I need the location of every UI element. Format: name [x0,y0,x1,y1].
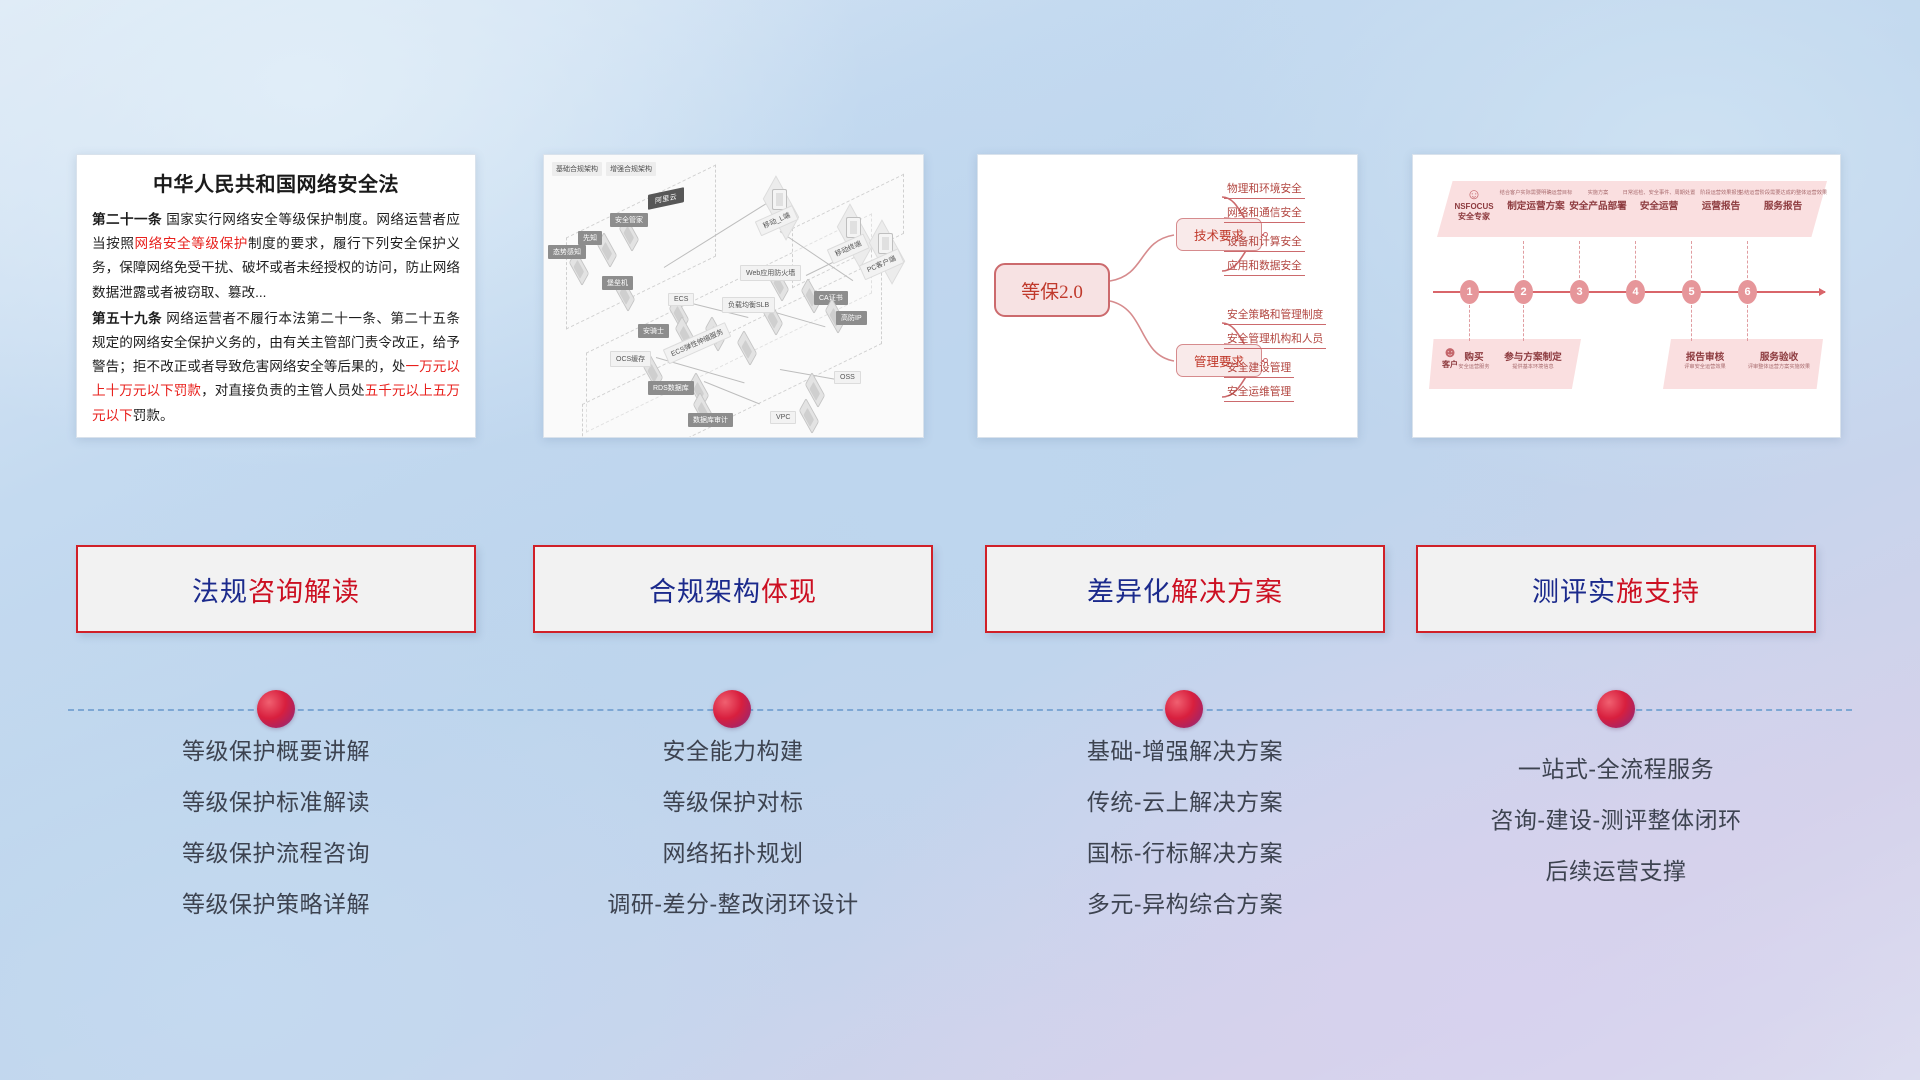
node-load-balancer-slb: 负载均衡SLB [722,297,775,313]
flow-step-bottom-2-title: 参与方案制定 [1495,349,1571,363]
legend-enhanced: 增强合规架构 [606,162,656,176]
flow-step-bottom-1: 购买 安全运营服务 [1453,349,1495,372]
heading-1-text: 法规咨询解读 [192,570,360,609]
flow-axis-dot-3: 3 [1570,280,1589,304]
detail-column-1: 等级保护概要讲解 等级保护标准解读 等级保护流程咨询 等级保护策略详解 [76,740,476,944]
mindmap-leaf-mgmt-4: 安全运维管理 [1224,384,1294,402]
node-ecs: ECS [668,293,694,306]
heading-row: 法规咨询解读 合规架构体现 差异化解决方案 测评实施支持 [0,545,1920,640]
mindmap-leaf-tech-1: 物理和环境安全 [1224,181,1305,199]
flow-tick-3 [1579,241,1580,283]
flow-axis-dot-5: 5 [1682,280,1701,304]
law-article-21: 第二十一条 国家实行网络安全等级保护制度。网络运营者应当按照网络安全等级保护制度… [92,208,460,305]
heading-2-text: 合规架构体现 [649,570,817,609]
detail-column-4: 一站式-全流程服务 咨询-建设-测评整体闭环 后续运营支撑 [1416,758,1816,911]
heading-2-blue: 合规架构 [649,577,761,607]
flow-step-bottom-2: 参与方案制定 提供基本环境信息 [1495,349,1571,372]
flow-provider-persona: ☺ NSFOCUS 安全专家 [1443,187,1505,222]
node-ocs-cache: OCS缓存 [610,351,651,367]
timeline-dot-1[interactable] [257,690,295,728]
flow-axis-dot-6: 6 [1738,280,1757,304]
heading-4-red: 施支持 [1616,577,1700,607]
node-security-steward: 安全管家 [610,213,648,227]
mindmap-leaf-mgmt-2: 安全管理机构和人员 [1224,331,1326,349]
list-item: 网络拓扑规划 [533,842,933,865]
list-item: 基础-增强解决方案 [985,740,1385,763]
heading-3-blue: 差异化 [1087,577,1171,607]
flow-tick-b6 [1747,305,1748,341]
flow-step-bottom-6-sub: 评审整体运营方案实施效果 [1737,363,1821,370]
article-59-text-c: 罚款。 [133,408,174,423]
flow-step-bottom-6-title: 服务验收 [1737,349,1821,363]
node-anti-ddos-ip: 高防IP [836,311,867,325]
mindmap-leaf-mgmt-1: 安全策略和管理制度 [1224,307,1326,325]
card-dengbao-mindmap[interactable]: 等保2.0 技术要求 物理和环境安全 网络和通信安全 设备和计算安全 应用和数据… [977,154,1358,438]
node-xianzhi: 先知 [578,231,602,245]
mindmap-leaf-tech-3: 设备和计算安全 [1224,234,1305,252]
heading-box-assessment-support[interactable]: 测评实施支持 [1416,545,1816,633]
mindmap-leaf-tech-2: 网络和通信安全 [1224,205,1305,223]
heading-2-red: 体现 [761,577,817,607]
heading-3-text: 差异化解决方案 [1087,570,1283,609]
flow-tick-6 [1747,241,1748,283]
list-item: 国标-行标解决方案 [985,842,1385,865]
flow-axis-dot-1: 1 [1460,280,1479,304]
flow-provider-title: NSFOCUS 安全专家 [1443,202,1505,222]
timeline-dot-2[interactable] [713,690,751,728]
mindmap: 等保2.0 技术要求 物理和环境安全 网络和通信安全 设备和计算安全 应用和数据… [978,155,1357,437]
flow-step-bottom-1-title: 购买 [1453,349,1495,363]
list-item: 等级保护对标 [533,791,933,814]
node-situation-awareness: 态势感知 [548,245,586,259]
heading-box-compliance-architecture[interactable]: 合规架构体现 [533,545,933,633]
timeline-dashed-line [68,709,1852,711]
node-anqishi: 安骑士 [638,324,669,338]
icon-mobile-terminal [772,189,787,210]
article-21-label: 第二十一条 [92,212,162,227]
list-item: 等级保护标准解读 [76,791,476,814]
heading-box-regulation-consulting[interactable]: 法规咨询解读 [76,545,476,633]
flow-diagram: ☺ NSFOCUS 安全专家 ☻ 客户 结合客户实际需要明确运营目标 制定运营方… [1413,155,1840,437]
flow-tick-b2 [1523,305,1524,341]
flow-tick-b5 [1691,305,1692,341]
flow-step-bottom-6: 服务验收 评审整体运营方案实施效果 [1737,349,1821,372]
flow-axis-dot-2: 2 [1514,280,1533,304]
list-item: 等级保护策略详解 [76,893,476,916]
list-item: 一站式-全流程服务 [1416,758,1816,781]
node-bastion-host: 堡垒机 [602,276,633,290]
heading-1-blue: 法规 [192,577,248,607]
flow-step-bottom-5-title: 报告审核 [1669,349,1741,363]
legend-basic: 基础合规架构 [552,162,602,176]
list-item: 传统-云上解决方案 [985,791,1385,814]
law-card-title: 中华人民共和国网络安全法 [92,168,460,197]
card-compliance-architecture[interactable]: 基础合规架构 增强合规架构 阿里云 安全管家 先知 [543,154,924,438]
timeline-dot-3[interactable] [1165,690,1203,728]
mindmap-root-node[interactable]: 等保2.0 [994,263,1110,317]
node-web-application-firewall: Web应用防火墙 [740,265,801,281]
list-item: 多元-异构综合方案 [985,893,1385,916]
architecture-diagram: 基础合规架构 增强合规架构 阿里云 安全管家 先知 [544,155,923,437]
flow-tick-5 [1691,241,1692,283]
flow-step-bottom-5: 报告审核 评审安全运营效果 [1669,349,1741,372]
card-cybersecurity-law[interactable]: 中华人民共和国网络安全法 第二十一条 国家实行网络安全等级保护制度。网络运营者应… [76,154,476,438]
flow-step-bottom-5-sub: 评审安全运营效果 [1669,363,1741,370]
list-item: 安全能力构建 [533,740,933,763]
expert-person-icon: ☺ [1443,187,1505,202]
node-rds-database: RDS数据库 [648,381,694,395]
flow-step-bottom-2-sub: 提供基本环境信息 [1495,363,1571,370]
flow-tick-4 [1635,241,1636,283]
article-59-text-b: ，对直接负责的主管人员处 [201,383,365,398]
timeline [0,690,1920,730]
timeline-dot-4[interactable] [1597,690,1635,728]
heading-3-red: 解决方案 [1171,577,1283,607]
mindmap-leaf-mgmt-3: 安全建设管理 [1224,360,1294,378]
list-item: 咨询-建设-测评整体闭环 [1416,809,1816,832]
flow-step-bottom-1-sub: 安全运营服务 [1453,363,1495,370]
heading-4-text: 测评实施支持 [1532,570,1700,609]
article-21-highlight: 网络安全等级保护 [135,236,248,251]
flow-step-top-6: 总结运营阶段需要达成的整体运营效果 服务报告 [1735,189,1831,212]
heading-4-blue: 测评实 [1532,577,1616,607]
list-item: 调研-差分-整改闭环设计 [533,893,933,916]
law-article-59: 第五十九条 网络运营者不履行本法第二十一条、第二十五条规定的网络安全保护义务的，… [92,307,460,428]
flow-step-top-6-title: 服务报告 [1735,198,1831,212]
flow-tick-b1 [1469,305,1470,341]
card-assessment-flow[interactable]: ☺ NSFOCUS 安全专家 ☻ 客户 结合客户实际需要明确运营目标 制定运营方… [1412,154,1841,438]
detail-columns: 等级保护概要讲解 等级保护标准解读 等级保护流程咨询 等级保护策略详解 安全能力… [0,740,1920,970]
node-vpc: VPC [770,411,796,424]
heading-box-differentiated-solution[interactable]: 差异化解决方案 [985,545,1385,633]
flow-axis-dot-4: 4 [1626,280,1645,304]
article-59-label: 第五十九条 [92,311,162,326]
list-item: 后续运营支撑 [1416,860,1816,883]
list-item: 等级保护流程咨询 [76,842,476,865]
node-oss: OSS [834,371,861,384]
mindmap-leaf-tech-4: 应用和数据安全 [1224,258,1305,276]
detail-column-2: 安全能力构建 等级保护对标 网络拓扑规划 调研-差分-整改闭环设计 [533,740,933,944]
cards-row: 中华人民共和国网络安全法 第二十一条 国家实行网络安全等级保护制度。网络运营者应… [0,0,1920,440]
detail-column-3: 基础-增强解决方案 传统-云上解决方案 国标-行标解决方案 多元-异构综合方案 [985,740,1385,944]
flow-step-top-6-sub: 总结运营阶段需要达成的整体运营效果 [1735,189,1831,196]
flow-tick-2 [1523,241,1524,283]
node-database-audit: 数据库审计 [688,413,733,427]
architecture-legend: 基础合规架构 增强合规架构 [552,162,656,176]
list-item: 等级保护概要讲解 [76,740,476,763]
heading-1-red: 咨询解读 [248,577,360,607]
